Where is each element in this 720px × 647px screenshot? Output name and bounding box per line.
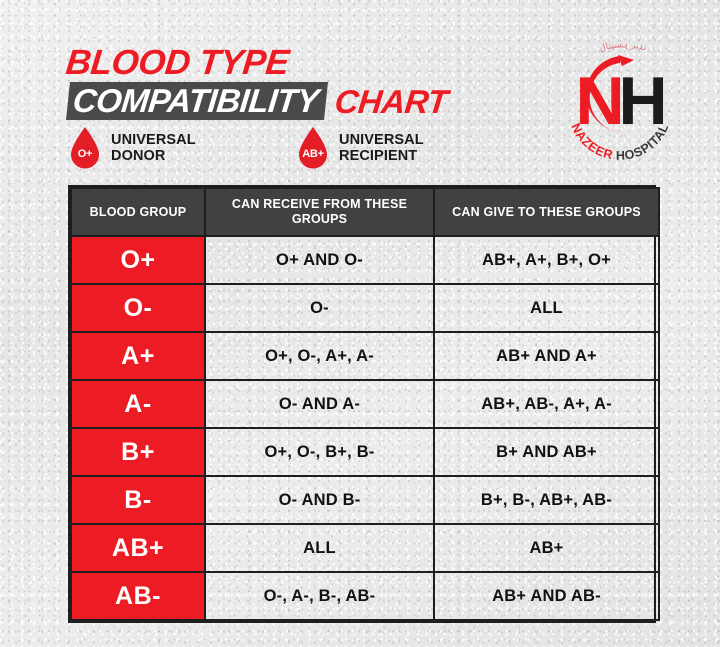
column-header-blood-group: BLOOD GROUP — [71, 188, 205, 236]
cell-can-receive: ALL — [205, 524, 434, 572]
legend-label-donor-line2: DONOR — [111, 148, 196, 164]
table-body: O+ O+ AND O- AB+, A+, B+, O+ O- O- ALL A… — [71, 236, 659, 620]
cell-blood-group: O- — [71, 284, 205, 332]
cell-can-receive: O+, O-, A+, A- — [205, 332, 434, 380]
table-row: O- O- ALL — [71, 284, 659, 332]
legend-label-recipient-line1: UNIVERSAL — [339, 132, 424, 148]
table-row: AB+ ALL AB+ — [71, 524, 659, 572]
cell-can-receive: O-, A-, B-, AB- — [205, 572, 434, 620]
cell-can-receive: O+ AND O- — [205, 236, 434, 284]
table-row: B+ O+, O-, B+, B- B+ AND AB+ — [71, 428, 659, 476]
hospital-logo: نذیر ہسپتال N H NAZEER HOSPITAL — [556, 36, 684, 164]
cell-can-give: B+, B-, AB+, AB- — [434, 476, 659, 524]
page-title-line2: COMPATIBILITY CHART — [68, 83, 448, 119]
blood-drop-icon: O+ — [68, 126, 102, 170]
column-header-can-receive: CAN RECEIVE FROM THESE GROUPS — [205, 188, 434, 236]
logo-urdu-tagline: نذیر ہسپتال — [598, 40, 647, 54]
cell-can-give: ALL — [434, 284, 659, 332]
cell-can-give: AB+, AB-, A+, A- — [434, 380, 659, 428]
cell-blood-group: A+ — [71, 332, 205, 380]
table-row: AB- O-, A-, B-, AB- AB+ AND AB- — [71, 572, 659, 620]
title-compatibility-banner: COMPATIBILITY — [66, 82, 328, 120]
cell-blood-group: O+ — [71, 236, 205, 284]
table-row: A+ O+, O-, A+, A- AB+ AND A+ — [71, 332, 659, 380]
blood-drop-label: O+ — [68, 148, 102, 160]
table-row: B- O- AND B- B+, B-, AB+, AB- — [71, 476, 659, 524]
svg-text:نذیر ہسپتال: نذیر ہسپتال — [598, 40, 647, 54]
legend: O+ UNIVERSAL DONOR AB+ UNIVERSAL RECIPIE… — [68, 126, 488, 172]
cell-blood-group: B- — [71, 476, 205, 524]
blood-drop-label: AB+ — [296, 148, 330, 160]
blood-drop-icon: AB+ — [296, 126, 330, 170]
legend-item-universal-donor: O+ UNIVERSAL DONOR — [68, 126, 196, 170]
legend-label-donor: UNIVERSAL DONOR — [111, 132, 196, 164]
blood-type-compatibility-infographic: BLOOD TYPE COMPATIBILITY CHART O+ UNIVER… — [0, 0, 720, 647]
cell-can-receive: O- AND B- — [205, 476, 434, 524]
cell-blood-group: AB+ — [71, 524, 205, 572]
legend-item-universal-recipient: AB+ UNIVERSAL RECIPIENT — [296, 126, 424, 170]
compatibility-table: BLOOD GROUP CAN RECEIVE FROM THESE GROUP… — [68, 185, 656, 623]
cell-can-receive: O+, O-, B+, B- — [205, 428, 434, 476]
cell-blood-group: AB- — [71, 572, 205, 620]
page-title-line1: BLOOD TYPE — [64, 44, 448, 82]
cell-can-receive: O- — [205, 284, 434, 332]
table-row: O+ O+ AND O- AB+, A+, B+, O+ — [71, 236, 659, 284]
title-chart-word: CHART — [334, 85, 450, 118]
table-header-row: BLOOD GROUP CAN RECEIVE FROM THESE GROUP… — [71, 188, 659, 236]
cell-can-give: AB+ AND A+ — [434, 332, 659, 380]
legend-label-recipient: UNIVERSAL RECIPIENT — [339, 132, 424, 164]
title-block: BLOOD TYPE COMPATIBILITY CHART — [68, 44, 448, 119]
table-row: A- O- AND A- AB+, AB-, A+, A- — [71, 380, 659, 428]
legend-label-donor-line1: UNIVERSAL — [111, 132, 196, 148]
cell-can-give: AB+ AND AB- — [434, 572, 659, 620]
legend-label-recipient-line2: RECIPIENT — [339, 148, 424, 164]
cell-can-give: AB+ — [434, 524, 659, 572]
cell-blood-group: A- — [71, 380, 205, 428]
column-header-can-give: CAN GIVE TO THESE GROUPS — [434, 188, 659, 236]
cell-can-receive: O- AND A- — [205, 380, 434, 428]
cell-blood-group: B+ — [71, 428, 205, 476]
cell-can-give: AB+, A+, B+, O+ — [434, 236, 659, 284]
cell-can-give: B+ AND AB+ — [434, 428, 659, 476]
